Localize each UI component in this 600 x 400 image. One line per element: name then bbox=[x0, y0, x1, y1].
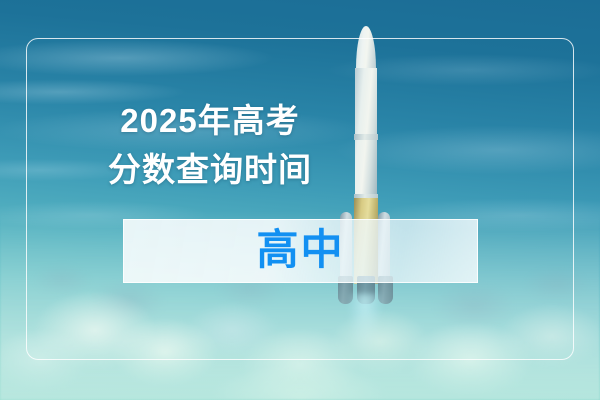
headline-line-1: 2025年高考 bbox=[0, 96, 420, 145]
headline-line-2: 分数查询时间 bbox=[0, 145, 420, 194]
promo-banner: 2025年高考 分数查询时间 高中 bbox=[0, 0, 600, 400]
highlight-label: 高中 bbox=[256, 229, 344, 271]
page-title: 2025年高考 分数查询时间 bbox=[0, 96, 420, 194]
highlight-bar: 高中 bbox=[123, 219, 478, 283]
rocket-nose-cone bbox=[356, 26, 376, 72]
bottom-haze bbox=[0, 340, 600, 400]
